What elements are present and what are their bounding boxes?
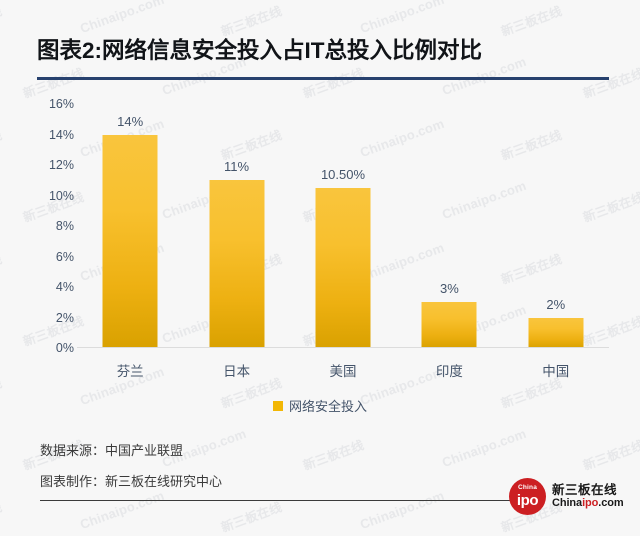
bar-value-label: 3% — [440, 281, 459, 296]
x-axis-category-label: 日本 — [223, 360, 250, 380]
bar-value-label: 14% — [117, 114, 143, 129]
bar[interactable] — [209, 180, 264, 348]
plot-area: 14%芬兰11%日本10.50%美国3%印度2%中国 — [77, 104, 609, 348]
y-axis-tick-label: 12% — [14, 158, 74, 172]
bar-group: 10.50%美国 — [290, 104, 396, 348]
y-axis-tick-label: 6% — [14, 250, 74, 264]
y-axis-tick-label: 16% — [14, 97, 74, 111]
bar-value-label: 10.50% — [321, 167, 365, 182]
y-axis-tick-label: 0% — [14, 341, 74, 355]
y-axis-tick-label: 8% — [14, 219, 74, 233]
note-data-source: 数据来源：中国产业联盟 — [40, 440, 183, 459]
logo-name-en-part3: .com — [598, 497, 623, 509]
bar-group: 3%印度 — [396, 104, 502, 348]
bar-value-label: 2% — [546, 297, 565, 312]
bar-value-label: 11% — [224, 159, 249, 174]
x-axis-category-label: 美国 — [329, 360, 356, 380]
x-axis-category-label: 芬兰 — [117, 360, 144, 380]
chart-page: Chinaipo.com新三板在线Chinaipo.com新三板在线Chinai… — [0, 0, 640, 536]
note-chart-maker: 图表制作：新三板在线研究中心 — [40, 471, 222, 490]
bar-group: 11%日本 — [183, 104, 289, 348]
footer-divider — [40, 500, 512, 501]
title-divider — [37, 77, 609, 80]
logo-badge-main-text: ipo — [517, 493, 538, 508]
x-axis-category-label: 中国 — [542, 360, 569, 380]
bar[interactable] — [315, 188, 370, 348]
logo-text: 新三板在线 Chinaipo.com — [552, 483, 624, 510]
y-axis-tick-label: 14% — [14, 128, 74, 142]
logo-name-en: Chinaipo.com — [552, 497, 624, 510]
brand-logo: China ipo 新三板在线 Chinaipo.com — [509, 478, 624, 515]
legend: 网络安全投入 — [0, 396, 640, 415]
y-axis-tick-label: 4% — [14, 280, 74, 294]
y-axis-tick-label: 10% — [14, 189, 74, 203]
logo-name-en-part1: China — [552, 497, 582, 509]
logo-name-en-part2: ipo — [582, 497, 598, 509]
bar[interactable] — [422, 302, 477, 348]
bar-group: 2%中国 — [503, 104, 609, 348]
logo-name-cn: 新三板在线 — [552, 483, 624, 497]
logo-badge-icon: China ipo — [509, 478, 546, 515]
legend-label: 网络安全投入 — [289, 396, 367, 415]
logo-badge-top-text: China — [518, 485, 537, 492]
y-axis-tick-label: 2% — [14, 311, 74, 325]
bar[interactable] — [103, 135, 158, 349]
page-title: 图表2:网络信息安全投入占IT总投入比例对比 — [37, 33, 482, 65]
chart-content: 图表2:网络信息安全投入占IT总投入比例对比 14%芬兰11%日本10.50%美… — [0, 0, 640, 536]
bar-group: 14%芬兰 — [77, 104, 183, 348]
x-axis-category-label: 印度 — [436, 360, 463, 380]
legend-swatch-icon — [273, 401, 283, 411]
x-axis-line — [77, 347, 609, 348]
bar[interactable] — [528, 318, 583, 349]
